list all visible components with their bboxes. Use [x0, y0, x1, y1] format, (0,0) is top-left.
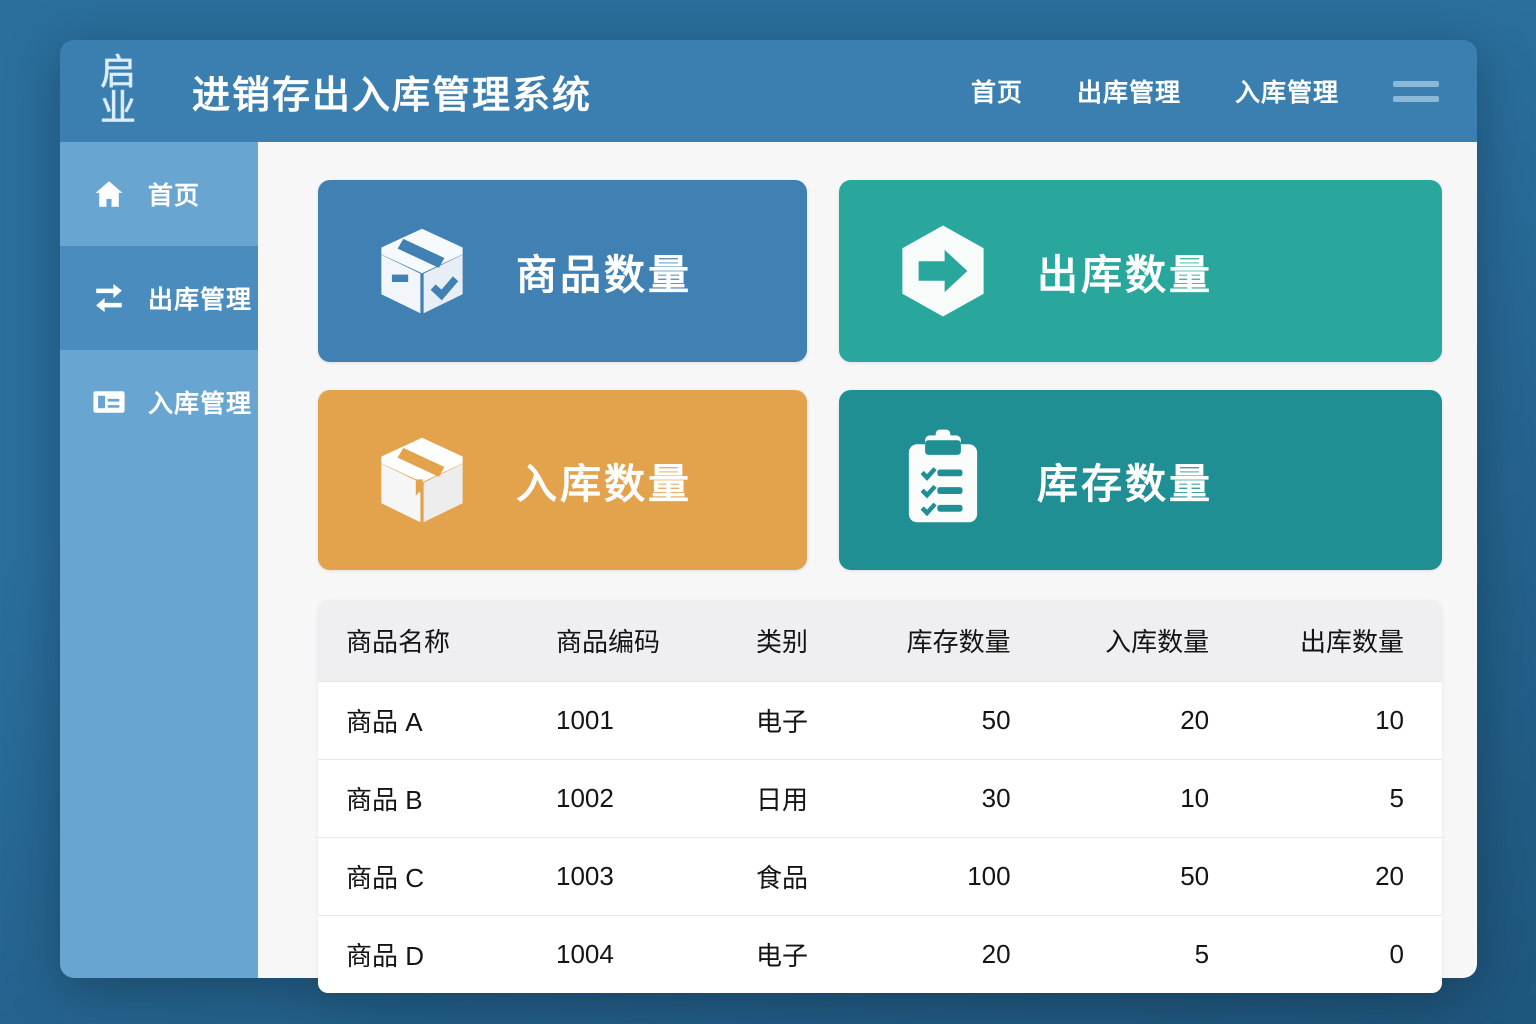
cell-stock-qty: 30: [900, 760, 1099, 838]
box-check-icon: [370, 219, 474, 323]
column-header-product-name: 商品名称: [318, 600, 550, 682]
card-label: 商品数量: [516, 241, 692, 301]
card-label: 库存数量: [1037, 450, 1213, 510]
column-header-inbound-qty: 入库数量: [1099, 600, 1296, 682]
cell-inbound-qty: 5: [1099, 916, 1296, 994]
brand-logo-icon[interactable]: 启业: [100, 65, 162, 117]
sidebar-item-label: 首页: [148, 176, 200, 212]
cell-inbound-qty: 20: [1099, 682, 1296, 760]
table-row[interactable]: 商品 C 1003 食品 100 50 20: [318, 838, 1442, 916]
cell-category: 食品: [750, 838, 900, 916]
hexagon-arrow-icon: [891, 219, 995, 323]
sidebar-item-home[interactable]: 首页: [60, 142, 258, 246]
hamburger-icon[interactable]: [1393, 74, 1439, 108]
cell-outbound-qty: 5: [1295, 760, 1442, 838]
column-header-product-code: 商品编码: [550, 600, 750, 682]
table-row[interactable]: 商品 D 1004 电子 20 5 0: [318, 916, 1442, 994]
cell-outbound-qty: 0: [1295, 916, 1442, 994]
cell-product-code: 1003: [550, 838, 750, 916]
cell-product-code: 1004: [550, 916, 750, 994]
cell-stock-qty: 100: [900, 838, 1099, 916]
cell-stock-qty: 20: [900, 916, 1099, 994]
card-inbound-count[interactable]: 入库数量: [318, 390, 807, 570]
card-stock-count[interactable]: 库存数量: [839, 390, 1442, 570]
exchange-icon: [92, 281, 126, 315]
card-outbound-count[interactable]: 出库数量: [839, 180, 1442, 362]
cell-product-code: 1002: [550, 760, 750, 838]
cell-category: 电子: [750, 682, 900, 760]
cell-inbound-qty: 50: [1099, 838, 1296, 916]
stat-cards: 商品数量 出库数量: [318, 180, 1441, 570]
column-header-category: 类别: [750, 600, 900, 682]
clipboard-check-icon: [891, 428, 995, 532]
card-label: 出库数量: [1037, 241, 1213, 301]
table-header-row: 商品名称 商品编码 类别 库存数量 入库数量 出库数量: [318, 600, 1442, 682]
cell-inbound-qty: 10: [1099, 760, 1296, 838]
topnav-item-home[interactable]: 首页: [971, 73, 1023, 109]
cell-product-code: 1001: [550, 682, 750, 760]
topnav-item-inbound[interactable]: 入库管理: [1235, 73, 1339, 109]
home-icon: [92, 177, 126, 211]
cell-product-name: 商品 A: [318, 682, 550, 760]
cell-outbound-qty: 20: [1295, 838, 1442, 916]
content-area: 商品数量 出库数量: [258, 142, 1477, 978]
card-product-count[interactable]: 商品数量: [318, 180, 807, 362]
cell-product-name: 商品 B: [318, 760, 550, 838]
sidebar-item-inbound[interactable]: 入库管理: [60, 350, 258, 454]
table-row[interactable]: 商品 A 1001 电子 50 20 10: [318, 682, 1442, 760]
cell-category: 日用: [750, 760, 900, 838]
sidebar-item-label: 出库管理: [148, 280, 252, 316]
column-header-outbound-qty: 出库数量: [1295, 600, 1442, 682]
page-title: 进销存出入库管理系统: [192, 64, 592, 119]
top-navigation: 首页 出库管理 入库管理: [971, 73, 1439, 109]
cell-outbound-qty: 10: [1295, 682, 1442, 760]
inventory-table: 商品名称 商品编码 类别 库存数量 入库数量 出库数量 商品 A 1001 电子…: [318, 600, 1442, 993]
cell-product-name: 商品 D: [318, 916, 550, 994]
cell-stock-qty: 50: [900, 682, 1099, 760]
top-header-bar: 启业 进销存出入库管理系统 首页 出库管理 入库管理: [60, 40, 1477, 142]
sidebar-item-outbound[interactable]: 出库管理: [60, 246, 258, 350]
inbox-card-icon: [92, 385, 126, 419]
topnav-item-outbound[interactable]: 出库管理: [1077, 73, 1181, 109]
table-row[interactable]: 商品 B 1002 日用 30 10 5: [318, 760, 1442, 838]
app-window: 启业 进销存出入库管理系统 首页 出库管理 入库管理 首页 出库管理: [60, 40, 1477, 978]
column-header-stock-qty: 库存数量: [900, 600, 1099, 682]
sidebar: 首页 出库管理 入库管理: [60, 142, 258, 978]
card-label: 入库数量: [516, 450, 692, 510]
cell-product-name: 商品 C: [318, 838, 550, 916]
brand-logo-text: 启业: [100, 55, 162, 127]
sidebar-item-label: 入库管理: [148, 384, 252, 420]
box-open-icon: [370, 428, 474, 532]
cell-category: 电子: [750, 916, 900, 994]
